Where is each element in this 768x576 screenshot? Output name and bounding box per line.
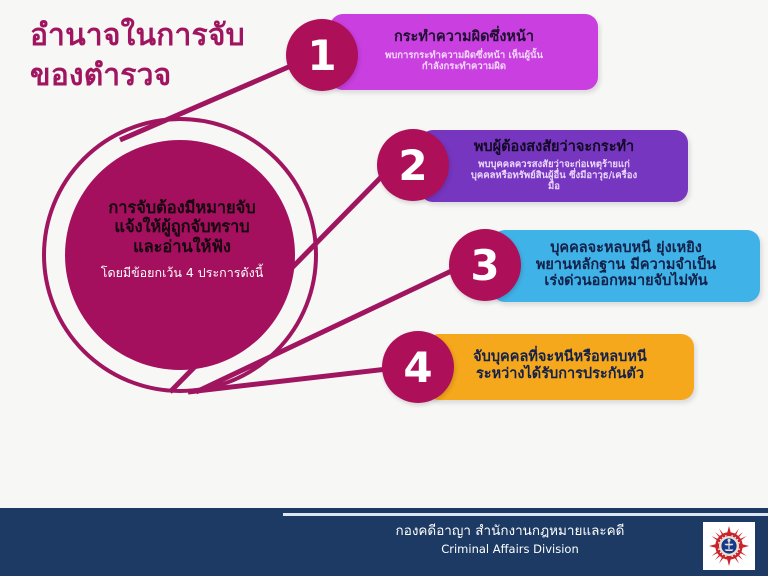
- item-3-heading-line3: เร่งด่วนออกหมายจับไม่ทัน: [536, 273, 716, 290]
- item-4-heading-line1: จับบุคคลที่จะหนีหรือหลบหนี: [473, 349, 647, 366]
- footer-bar: กองคดีอาญา สำนักงานกฎหมายและคดี Criminal…: [0, 508, 768, 576]
- item-2-sub-line2: บุคคลหรือทรัพย์สินผู้อื่น ซึ่งมีอาวุธ/เค…: [471, 170, 637, 181]
- item-1-sub-line1: พบการกระทำความผิดซึ่งหน้า เห็นผู้นั้น: [385, 50, 543, 61]
- item-3-heading-line1: บุคคลจะหลบหนี ยุ่งเหยิง: [536, 240, 716, 257]
- footer-thai-label: กองคดีอาญา สำนักงานกฎหมายและคดี: [340, 522, 680, 540]
- hub-subtitle: โดยมีข้อยกเว้น 4 ประการดังนี้: [58, 265, 306, 280]
- item-box-4[interactable]: จับบุคคลที่จะหนีหรือหลบหนี ระหว่างได้รับ…: [426, 334, 694, 400]
- item-1-heading: กระทำความผิดซึ่งหน้า: [394, 29, 534, 46]
- item-number-badge-1[interactable]: 1: [286, 19, 358, 91]
- item-4-heading-line2: ระหว่างได้รับการประกันตัว: [473, 366, 647, 383]
- item-3-heading: บุคคลจะหลบหนี ยุ่งเหยิง พยานหลักฐาน มีคว…: [536, 240, 716, 290]
- item-2-subtext: พบบุคคลควรสงสัยว่าจะก่อเหตุร้ายแก่ บุคคล…: [471, 159, 637, 193]
- item-number-badge-4[interactable]: 4: [382, 331, 454, 403]
- page-title-line2: ของตำรวจ: [30, 56, 245, 96]
- police-seal-emblem-icon: [703, 522, 755, 570]
- item-box-2[interactable]: พบผู้ต้องสงสัยว่าจะกระทำ พบบุคคลควรสงสัย…: [420, 130, 688, 202]
- page-title: อำนาจในการจับ ของตำรวจ: [30, 16, 245, 95]
- item-2-sub-line1: พบบุคคลควรสงสัยว่าจะก่อเหตุร้ายแก่: [471, 159, 637, 170]
- item-number-badge-3[interactable]: 3: [449, 229, 521, 301]
- item-2-sub-line3: มือ: [471, 181, 637, 192]
- item-1-subtext: พบการกระทำความผิดซึ่งหน้า เห็นผู้นั้น กำ…: [385, 50, 543, 72]
- item-1-sub-line2: กำลังกระทำความผิด: [385, 61, 543, 72]
- footer-english-label: Criminal Affairs Division: [340, 541, 680, 557]
- item-box-1[interactable]: กระทำความผิดซึ่งหน้า พบการกระทำความผิดซึ…: [330, 14, 598, 90]
- footer-divider-rule: [283, 513, 768, 516]
- hub-line-1: การจับต้องมีหมายจับ: [58, 198, 306, 217]
- footer-text-block: กองคดีอาญา สำนักงานกฎหมายและคดี Criminal…: [340, 522, 680, 557]
- hub-line-3: และอ่านให้ฟัง: [58, 237, 306, 256]
- item-2-heading: พบผู้ต้องสงสัยว่าจะกระทำ: [474, 139, 634, 156]
- item-3-heading-line2: พยานหลักฐาน มีความจำเป็น: [536, 257, 716, 274]
- infographic-canvas: อำนาจในการจับ ของตำรวจ การจับต้องมีหมายจ…: [0, 0, 768, 576]
- item-number-badge-2[interactable]: 2: [377, 129, 449, 201]
- page-title-line1: อำนาจในการจับ: [30, 18, 245, 53]
- hub-text-block: การจับต้องมีหมายจับ แจ้งให้ผู้ถูกจับทราบ…: [58, 198, 306, 280]
- item-4-heading: จับบุคคลที่จะหนีหรือหลบหนี ระหว่างได้รับ…: [473, 349, 647, 383]
- item-box-3[interactable]: บุคคลจะหลบหนี ยุ่งเหยิง พยานหลักฐาน มีคว…: [492, 230, 760, 302]
- hub-line-2: แจ้งให้ผู้ถูกจับทราบ: [58, 217, 306, 236]
